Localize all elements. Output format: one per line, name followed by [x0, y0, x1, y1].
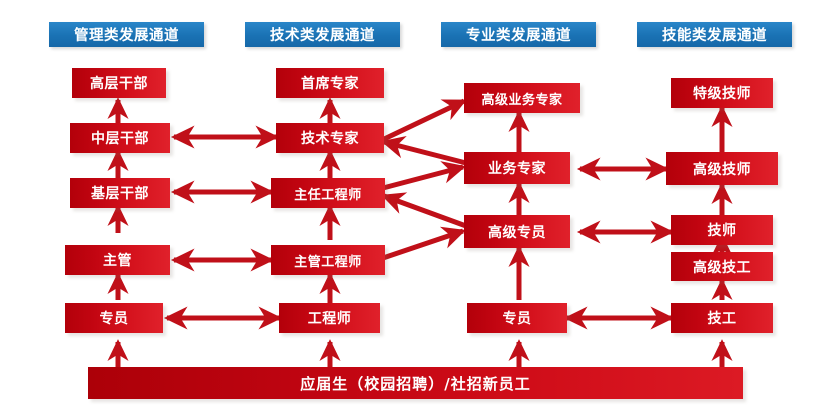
node-senior-business-expert[interactable]: 高级业务专家 — [464, 83, 580, 113]
node-specialist-management[interactable]: 专员 — [65, 303, 163, 333]
node-business-expert[interactable]: 业务专家 — [464, 152, 570, 184]
arrow-t4-to-p3 — [383, 231, 463, 258]
node-junior-management[interactable]: 基层干部 — [70, 178, 170, 208]
node-senior-skilled-worker[interactable]: 高级技工 — [671, 252, 773, 281]
node-supervising-engineer[interactable]: 主管工程师 — [271, 245, 385, 275]
node-middle-management[interactable]: 中层干部 — [70, 123, 170, 153]
arrow-p3-to-t3 — [384, 196, 466, 226]
node-senior-technician[interactable]: 高级技师 — [666, 152, 778, 185]
arrow-t2-to-p1 — [382, 101, 464, 140]
node-technician[interactable]: 技师 — [671, 215, 773, 245]
node-engineer[interactable]: 工程师 — [279, 303, 380, 333]
node-technical-expert[interactable]: 技术专家 — [276, 123, 384, 153]
node-master-technician[interactable]: 特级技师 — [671, 78, 773, 108]
arrow-p2-to-t2 — [384, 142, 466, 163]
node-chief-engineer[interactable]: 主任工程师 — [271, 178, 385, 208]
node-specialist-professional[interactable]: 专员 — [467, 303, 567, 333]
node-supervisor[interactable]: 主管 — [65, 245, 170, 275]
node-skilled-worker[interactable]: 技工 — [671, 303, 773, 333]
node-senior-specialist[interactable]: 高级专员 — [464, 215, 570, 248]
career-path-diagram: 管理类发展通道 技术类发展通道 专业类发展通道 技能类发展通道 高层干部 中层干… — [0, 0, 831, 413]
node-senior-management[interactable]: 高层干部 — [72, 68, 166, 98]
node-chief-expert[interactable]: 首席专家 — [276, 68, 384, 98]
entry-level-bar[interactable]: 应届生（校园招聘）/社招新员工 — [88, 367, 743, 399]
arrow-t3-to-p2 — [383, 167, 463, 188]
